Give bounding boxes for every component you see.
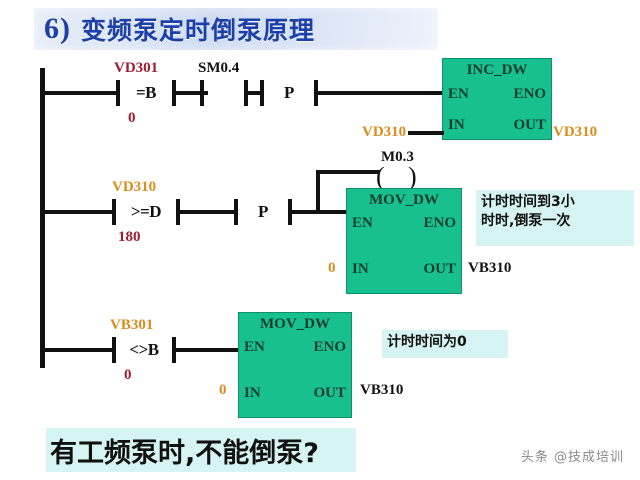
pin-eno: ENO (513, 86, 546, 103)
page-title: 6) 变频泵定时倒泵原理 (44, 9, 436, 49)
rung2-wire-b (176, 210, 238, 214)
coil-m03[interactable]: ( ) M0.3 (376, 158, 420, 188)
contact-label-vd301: VD301 (114, 60, 158, 77)
block-title: MOV_DW (239, 316, 351, 333)
pin-en: EN (244, 339, 265, 356)
block-mov-dw-rung2[interactable]: MOV_DW EN ENO IN OUT (346, 188, 462, 294)
title-number: 6) (44, 12, 71, 46)
contact-p-rung1[interactable]: P (260, 80, 318, 106)
rung3-wire-b (172, 348, 240, 352)
contact-label-vb301: VB301 (110, 317, 153, 334)
note-rung2: 计时时间到3小 时时,倒泵一次 (476, 190, 634, 246)
slide-canvas: 6) 变频泵定时倒泵原理 =B VD301 0 SM0.4 P INC_DW E… (0, 0, 640, 480)
bottom-question: 有工频泵时,不能倒泵? (50, 430, 355, 470)
note-rung3: 计时时间为0 (382, 330, 508, 358)
rung1-in-wire (408, 131, 444, 135)
contact-operator (200, 80, 248, 106)
contact-operator: P (234, 199, 292, 225)
contact-label-sm04: SM0.4 (198, 60, 239, 77)
rung3-wire-a (44, 348, 116, 352)
operand-in-zero-rung3: 0 (219, 382, 227, 399)
rung1-wire-d (314, 91, 444, 95)
coil-paren-right: ) (408, 164, 417, 190)
block-mov-dw-rung3[interactable]: MOV_DW EN ENO IN OUT (238, 312, 352, 418)
pin-eno: ENO (313, 339, 346, 356)
contact-operator: =B (116, 80, 176, 106)
rung2-coil-wire (316, 170, 380, 174)
pin-in: IN (448, 117, 465, 134)
contact-value-zero-rung3: 0 (124, 367, 132, 384)
title-label: 变频泵定时倒泵原理 (81, 11, 315, 47)
contact-vb301[interactable]: <>B (112, 337, 176, 363)
operand-in-vd310: VD310 (362, 124, 406, 141)
operand-out-vb310-rung2: VB310 (468, 260, 511, 277)
pin-out: OUT (513, 117, 546, 134)
watermark: 头条 @技成培训 (521, 446, 624, 465)
rung1-wire-a (44, 91, 120, 95)
coil-label: M0.3 (381, 149, 414, 166)
pin-in: IN (352, 261, 369, 278)
operand-out-vb310-rung3: VB310 (360, 382, 403, 399)
pin-out: OUT (313, 385, 346, 402)
contact-value-180: 180 (118, 229, 141, 246)
operand-in-zero-rung2: 0 (328, 260, 336, 277)
contact-vd310[interactable]: >=D (112, 199, 180, 225)
contact-label-vd310: VD310 (112, 179, 156, 196)
rung2-branch-vertical (316, 172, 320, 212)
block-title: INC_DW (443, 62, 551, 79)
contact-operator: <>B (112, 337, 176, 363)
power-rail-left (40, 68, 45, 368)
coil-paren-left: ( (376, 164, 385, 190)
pin-out: OUT (423, 261, 456, 278)
contact-vd301[interactable]: =B (116, 80, 176, 106)
pin-in: IN (244, 385, 261, 402)
contact-p-rung2[interactable]: P (234, 199, 292, 225)
operand-out-vd310: VD310 (553, 124, 597, 141)
block-title: MOV_DW (347, 192, 461, 209)
pin-eno: ENO (423, 215, 456, 232)
contact-value-vd301: 0 (128, 110, 136, 127)
contact-operator: >=D (112, 199, 180, 225)
pin-en: EN (352, 215, 373, 232)
rung2-wire-a (44, 210, 116, 214)
contact-operator: P (260, 80, 318, 106)
block-inc-dw[interactable]: INC_DW EN ENO IN OUT (442, 58, 552, 140)
pin-en: EN (448, 86, 469, 103)
contact-sm04[interactable] (200, 80, 248, 106)
